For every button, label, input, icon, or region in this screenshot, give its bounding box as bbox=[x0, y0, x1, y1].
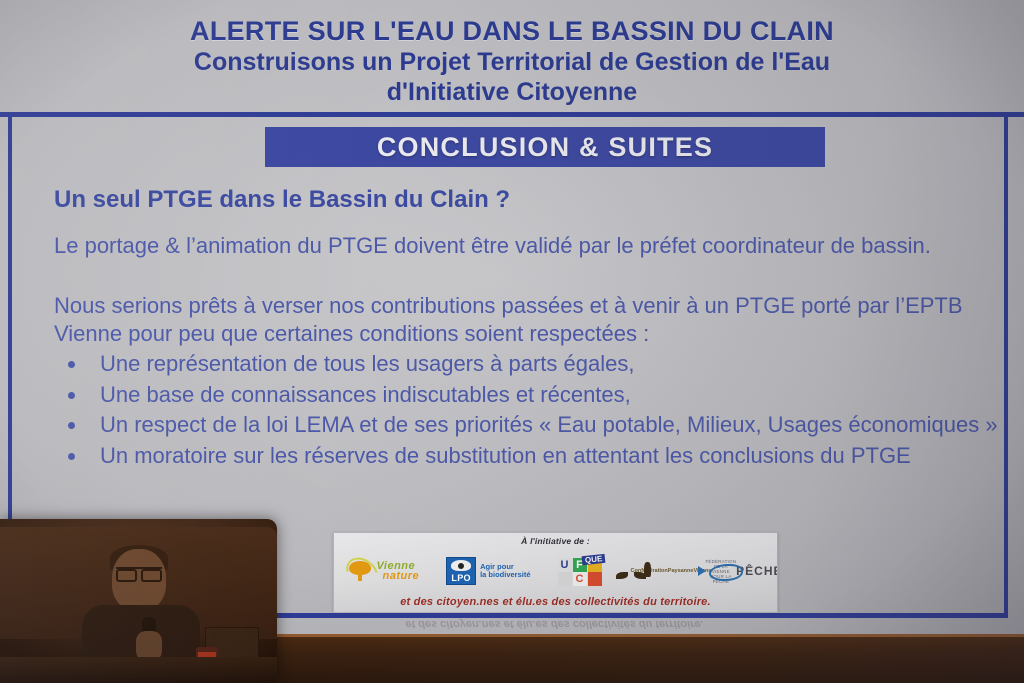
logo-lpo-mark: LPO bbox=[451, 573, 470, 583]
slide-title-line-2: Construisons un Projet Territorial de Ge… bbox=[0, 48, 1024, 78]
logo-confederation-caption-2: Paysanne bbox=[668, 567, 694, 575]
footer-logo-row: Vienne nature LPO Agir pour la biodivers… bbox=[334, 549, 777, 593]
list-item: Un moratoire sur les réserves de substit… bbox=[54, 442, 1004, 471]
list-item: Une représentation de tous les usagers à… bbox=[54, 350, 1004, 379]
footer-caption: et des citoyen.nes et élu.es des collect… bbox=[334, 596, 777, 608]
slide-body: Un seul PTGE dans le Bassin du Clain ? L… bbox=[54, 186, 1004, 470]
logo-lpo: LPO Agir pour la biodiversité bbox=[446, 557, 530, 585]
tree-icon bbox=[347, 559, 373, 583]
list-item-label: Une représentation de tous les usagers à… bbox=[100, 351, 634, 376]
logo-vienne-nature-line-2: nature bbox=[382, 571, 419, 581]
paragraph-1: Le portage & l’animation du PTGE doivent… bbox=[54, 232, 1004, 260]
list-item: Un respect de la loi LEMA et de ses prio… bbox=[54, 411, 1004, 440]
bullet-icon bbox=[68, 422, 75, 429]
list-item-label: Un respect de la loi LEMA et de ses prio… bbox=[100, 412, 998, 437]
logo-ufc-letter-c: C bbox=[573, 572, 587, 586]
list-item: Une base de connaissances indiscutables … bbox=[54, 381, 1004, 410]
logo-ufc-que-choisir: U F C QUE bbox=[558, 556, 604, 586]
slide-title-block: ALERTE SUR L'EAU DANS LE BASSIN DU CLAIN… bbox=[0, 16, 1024, 107]
paragraph-2: Nous serions prêts à verser nos contribu… bbox=[54, 292, 1004, 348]
footer-initiative-label: À l'initiative de : bbox=[334, 536, 777, 546]
speaker-video-inset bbox=[0, 519, 277, 683]
conditions-list: Une représentation de tous les usagers à… bbox=[54, 350, 1004, 470]
bullet-icon bbox=[68, 361, 75, 368]
slide-title-line-1: ALERTE SUR L'EAU DANS LE BASSIN DU CLAIN bbox=[0, 16, 1024, 46]
list-item-label: Une base de connaissances indiscutables … bbox=[100, 382, 631, 407]
footer-caption-reflection: et des citoyen.nes et élu.es des collect… bbox=[333, 618, 776, 630]
list-item-label: Un moratoire sur les réserves de substit… bbox=[100, 443, 911, 468]
bullet-icon bbox=[68, 453, 75, 460]
ufc-cube-icon: U F C QUE bbox=[558, 556, 604, 586]
logo-ufc-badge: QUE bbox=[582, 554, 606, 565]
bird-icon: LPO bbox=[446, 557, 476, 585]
inset-veil bbox=[0, 519, 277, 683]
logo-confederation-paysanne: Confédération Paysanne Vienne bbox=[631, 560, 679, 582]
section-banner-label: CONCLUSION & SUITES bbox=[377, 132, 713, 163]
logo-lpo-tagline-2: la biodiversité bbox=[480, 571, 530, 579]
logo-federation-peche: FÉDÉRATION DE LA VIENNE POUR LA PÊCHE PÊ… bbox=[705, 559, 763, 584]
title-divider-rule bbox=[0, 112, 1024, 117]
screenshot-root: ALERTE SUR L'EAU DANS LE BASSIN DU CLAIN… bbox=[0, 0, 1024, 683]
section-banner: CONCLUSION & SUITES bbox=[265, 127, 825, 167]
slide-title-line-3: d'Initiative Citoyenne bbox=[0, 78, 1024, 108]
lead-question: Un seul PTGE dans le Bassin du Clain ? bbox=[54, 186, 1004, 214]
bullet-icon bbox=[68, 392, 75, 399]
footer-logo-strip: À l'initiative de : Vienne nature LPO bbox=[333, 532, 778, 613]
logo-ufc-letter-u: U bbox=[558, 558, 572, 572]
logo-vienne-nature: Vienne nature bbox=[347, 559, 419, 583]
